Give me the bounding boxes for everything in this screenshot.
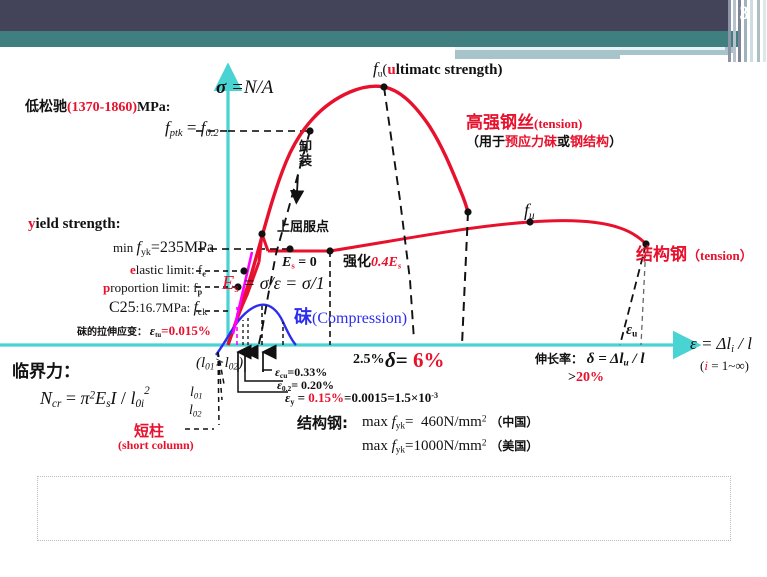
concrete-strain-cn: 砞的拉伸应变：	[77, 327, 147, 338]
hardening-label: 强化0.4Es	[343, 251, 401, 271]
row1-country: （中国）	[490, 415, 538, 429]
elongation-label: 伸长率： δ = Δlu / l	[535, 350, 645, 369]
low-relaxation-label: 低松驰(1370-1860)MPa:	[25, 96, 170, 116]
point-plateau-end	[326, 247, 333, 254]
fu-ultimate-initial: u	[387, 62, 395, 78]
upper-yield-point-label: 上屈服点	[277, 216, 329, 235]
curve-structural-steel-upperyield	[259, 234, 262, 262]
proportion-limit-text: roportion limit: f	[110, 280, 197, 295]
fu-right-label: fu	[524, 200, 535, 222]
fu-ultimate-label: fu(ultimatc strength)	[373, 59, 503, 80]
eps-y-rest: =0.0015=1.5×10	[344, 390, 431, 405]
low-relaxation-range: (1370-1860)	[67, 100, 137, 115]
l01-l02-compare: (l01>l02)	[196, 355, 243, 373]
concrete-strain-value: =0.015%	[161, 323, 211, 338]
elongation-pct-value: 20%	[576, 370, 604, 385]
fptk-label: fptk = f0.2	[165, 118, 219, 139]
point-wire-fracture	[464, 208, 471, 215]
high-strength-wire-en: (tension)	[534, 116, 582, 131]
slide-canvas: 3	[0, 0, 767, 577]
elastic-limit-text: lastic limit: f	[136, 262, 202, 277]
y-axis-label: σ =N/A	[216, 77, 273, 99]
l01-label: l01	[190, 385, 203, 401]
yield-strength-initial: y	[28, 216, 36, 232]
pct25-label: 2.5%	[353, 352, 385, 368]
structural-steel-cn: 结构钢	[636, 245, 687, 265]
es-zero-label: Es = 0	[282, 255, 317, 271]
elongation-pct: >20%	[568, 370, 604, 386]
critical-force-title: 临界力：	[12, 357, 80, 382]
c25-label: C25:16.7MPa: fck	[109, 299, 207, 318]
eps-y-value: 0.15%	[308, 390, 344, 405]
elongation-cn: 伸长率：	[535, 352, 583, 366]
delta-label: δ= 6%	[385, 348, 444, 373]
eps-u-label: εu	[626, 322, 637, 340]
hardening-cn: 强化	[343, 254, 371, 270]
concrete-compression-cn: 砞	[294, 307, 312, 328]
unloading-label: 卸装	[299, 141, 312, 168]
yield-strength-text: ield strength:	[36, 216, 121, 232]
note-close: ）	[609, 135, 622, 150]
l02-label: l02	[189, 403, 202, 419]
leader-eps-cu	[263, 370, 272, 372]
structural-steel-label: 结构钢（tension）	[636, 240, 753, 265]
point-min-fyk	[286, 245, 293, 252]
concrete-compression-en: (Compression)	[312, 310, 407, 327]
min-fyk-label: min fyk=235MPa	[113, 239, 214, 258]
low-relaxation-cn: 低松驰	[25, 99, 67, 115]
structural-steel-en: （tension）	[687, 248, 753, 263]
line-wire-fracture	[462, 212, 468, 345]
point-fu-wire	[380, 83, 387, 90]
note-open: （用于	[466, 135, 505, 150]
point-upper-yield	[258, 230, 265, 237]
note-red-1: 预应力砞	[505, 135, 557, 150]
high-strength-wire-label: 高强钢丝(tension)	[466, 108, 582, 133]
row2-country: （美国）	[490, 439, 538, 453]
high-strength-wire-cn: 高强钢丝	[466, 113, 534, 133]
note-red-2: 钢结构	[570, 135, 609, 150]
bottom-structural-steel-cn: 结构钢:	[297, 412, 348, 433]
delta-value: 6%	[413, 348, 445, 372]
curve-structural-steel-hardening	[330, 221, 646, 251]
yield-strength-label: yield strength:	[28, 216, 121, 233]
concrete-tensile-strain-label: 砞的拉伸应变： εtu=0.015%	[77, 323, 211, 339]
concrete-compression-label: 砞(Compression)	[294, 303, 407, 329]
low-relaxation-unit: MPa:	[137, 100, 170, 115]
es-formula: Es = σ/ε = σ/1	[222, 272, 325, 295]
fu-ultimate-text: ltimatc strength)	[396, 62, 503, 78]
critical-force-formula: Ncr = π2EsI / l0i2	[40, 385, 150, 410]
eps-y-label: εy = 0.15%=0.0015=1.5×10-3	[285, 390, 438, 406]
point-fptk	[306, 127, 313, 134]
bottom-note-row-1: max fyk= 460N/mm2 （中国）	[362, 413, 538, 432]
x-axis-note: (i = 1~∞)	[700, 358, 749, 374]
bottom-note-row-2: max fyk=1000N/mm2 （美国）	[362, 437, 538, 456]
note-mid: 或	[557, 135, 570, 150]
elastic-limit-label: elastic limit: fe	[130, 262, 206, 278]
x-axis-label: ε = Δli / l	[690, 334, 752, 355]
proportion-limit-label: proportion limit: fp	[103, 280, 202, 296]
short-column-en: (short column)	[118, 438, 194, 453]
arrow-unloading	[297, 175, 298, 192]
content-placeholder-box[interactable]	[37, 476, 731, 541]
high-strength-wire-note: （用于预应力砞或钢结构）	[466, 131, 622, 150]
